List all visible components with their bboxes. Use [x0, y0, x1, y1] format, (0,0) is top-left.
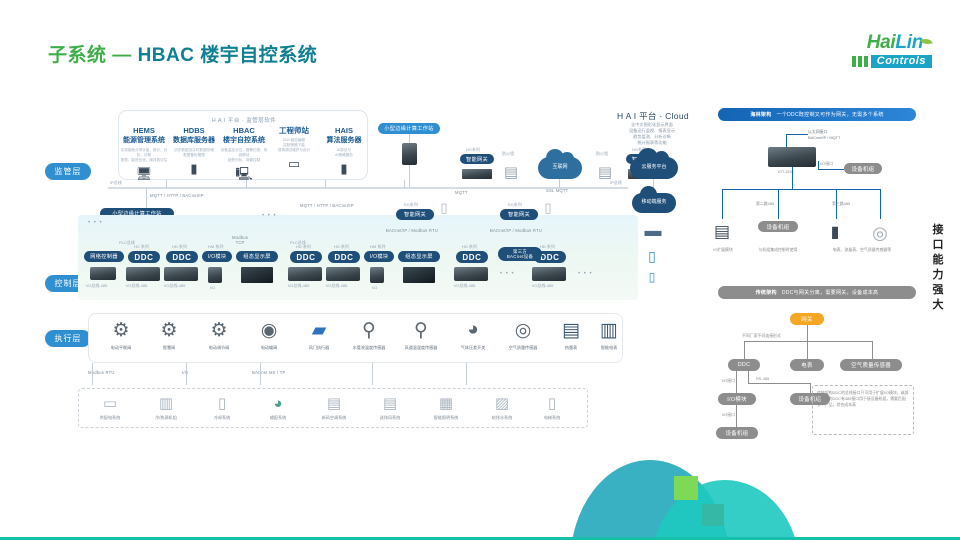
page-title: 子系统 — HBAC 楼宇自控系统: [48, 40, 317, 67]
pipe-sensor-icon: ⚲: [340, 317, 398, 343]
io-port-label-trad: I/O接口: [722, 378, 735, 384]
green-square: [674, 476, 698, 500]
hg-series-left: HG系列: [466, 147, 480, 153]
supervisory-card: H A I 平台 · 监管层软件 HEMS 能源管理系统 实现能耗分项计量、统计…: [118, 110, 368, 180]
sys-label-4: 新风空调系统: [306, 415, 362, 421]
io-unit-line: [736, 405, 737, 427]
ctrl-series-10: HD 系列: [540, 244, 555, 250]
page-title-teal: HBAC 楼宇自控系统: [138, 45, 318, 66]
io-port-line-v: [818, 161, 819, 169]
duct-sensor-icon: ⚲: [392, 317, 450, 343]
mobile-service-label: 移动端服务: [632, 198, 676, 205]
eth-port-line-h: [786, 134, 808, 135]
hais-code: HAIS: [319, 126, 369, 136]
air-sensor-node-trad[interactable]: 空气质量传感器: [840, 359, 902, 371]
gateway-node[interactable]: 网关: [790, 313, 824, 325]
bus-2-485-label: 第二路485: [756, 201, 774, 207]
fan-icon: ▤: [362, 392, 418, 414]
iot-ddc-eth-port-label: 以太网接口 BACnet/IP / MQTT: [808, 129, 888, 140]
logo-controls: Controls: [871, 55, 932, 68]
io-module-badge-1[interactable]: I/O模块: [202, 251, 232, 262]
sys-label-2: 冷却系统: [194, 415, 250, 421]
ddc-trunk-h: [722, 189, 880, 190]
server-icon: ▮: [169, 162, 219, 176]
ddc-device-4-icon: [326, 267, 360, 281]
hbac-name: 楼宇自控系统: [219, 136, 269, 146]
ddc-device-1-icon: [126, 267, 160, 281]
io-bus-2: I/O: [372, 285, 377, 290]
unit-node-caption: 与机组集成控制时使用: [742, 247, 814, 253]
iot-ddc-device-icon: [768, 147, 816, 167]
proto-bacnet-modbus-1: BACnet/IP / Modbus RTU: [386, 228, 438, 233]
ip-bus-label-left: IP总线: [110, 180, 122, 186]
display-badge-1[interactable]: 组态显示屏: [236, 251, 278, 262]
ddc-device-6-icon: [532, 267, 566, 281]
monitor-icon: 🖥: [119, 167, 169, 181]
hailin-arch-banner: 海林架构 一个DDC既控制又可作为网关，无需多个系统: [718, 108, 916, 121]
meter-node-trad[interactable]: 电表: [790, 359, 824, 371]
dots-control-2: • • •: [500, 271, 515, 277]
io-module-node-trad[interactable]: I/O模块: [718, 393, 756, 405]
exec-drop-5: [466, 363, 467, 385]
eg-device-1-icon: ▯: [436, 195, 452, 221]
bus-drop-1: [166, 180, 167, 188]
laptop-device-icon: ▬: [636, 220, 670, 242]
modbus-tcp-label: Modbus TCP: [232, 235, 248, 245]
exec-label-10: 智能电表: [580, 345, 638, 351]
eg-device-2-icon: ▯: [540, 195, 556, 221]
ddc-badge-2[interactable]: DDC: [166, 251, 198, 263]
plc-bus-label-1: PLC总线: [119, 240, 135, 246]
ddc-485-v: [748, 371, 749, 383]
exec-item-6[interactable]: ⚲ 风道温湿度传感器: [392, 317, 450, 351]
energy-meter-icon: ▮: [824, 219, 846, 245]
ddc-device-2-icon: [164, 267, 198, 281]
chiller-icon: ▥: [138, 392, 194, 414]
sys-item-1[interactable]: ▥ 冷/热源机组: [138, 392, 194, 421]
hbac-code: HBAC: [219, 126, 269, 136]
ddc-io-line: [736, 371, 737, 393]
hailin-arch-text: 一个DDC既控制又可作为网关，无需多个系统: [777, 111, 884, 118]
proto-edge-4: MQTT / HTTP / BACnet/IP: [300, 203, 354, 208]
eg-series-2: EG系列: [508, 202, 522, 208]
edge-station-badge[interactable]: 小型边缘计算工作站: [378, 123, 440, 134]
third-party-bacnet-badge[interactable]: 第三方 BACnet设备: [498, 247, 542, 261]
ai-server-icon: ▮: [319, 162, 369, 176]
iot-ddc-label: IOT-DDC: [766, 169, 806, 174]
layer-tag-supervisory: 监管层: [45, 163, 91, 180]
logo-wordmark: HaiLin: [820, 33, 932, 53]
supervisory-item-hbac[interactable]: HBAC 楼宇自控系统 设备监控点位、报警记录、系统联动 趋势分析、场景控制 🖳: [219, 126, 269, 181]
io-expansion-caption: IO扩展模块: [700, 247, 746, 253]
sys-item-7[interactable]: ▨ 给排水系统: [474, 392, 530, 421]
proto-bacnet-modbus-2: BACnet/IP / Modbus RTU: [490, 228, 542, 233]
edge-station-icon: [402, 143, 417, 165]
traditional-arch-title: 传统架构: [756, 289, 777, 296]
dots-control-3: • • •: [578, 271, 593, 277]
internet-label: 互联网: [538, 163, 582, 170]
ddc-bus-5: I/O总线-485: [454, 283, 475, 289]
io-module-badge-2[interactable]: I/O模块: [364, 251, 394, 262]
hdbs-name: 数据库服务器: [169, 136, 219, 146]
hai-cloud-desc: 全中文图形化显示界面 设备运行监视、报表显示 趋势监测、分析诊断 统计报表等功能: [604, 122, 700, 146]
hbac-desc: 设备监控点位、报警记录、系统联动 趋势分析、场景控制: [219, 148, 269, 163]
display-badge-2[interactable]: 组态显示屏: [398, 251, 440, 262]
laptop-icon: ▭: [269, 157, 319, 171]
ddc-badge-3[interactable]: DDC: [290, 251, 322, 263]
logo-hai: Hai: [867, 32, 896, 53]
gateway-badge-left[interactable]: 智能网关: [460, 154, 494, 164]
vendor-note: 不同厂家不同连接形式: [742, 333, 781, 339]
ddc-badge-1[interactable]: DDC: [128, 251, 160, 263]
cloud-platform-label: 云服务平台: [630, 163, 678, 170]
interface-capability-text: 接口能力强大: [930, 223, 946, 313]
ctrl-series-2: HD 系列: [172, 244, 187, 250]
branch-4-v: [880, 189, 881, 219]
sys-label-0: 供配电系统: [82, 415, 138, 421]
net-controller-device-icon: [90, 267, 116, 280]
gw-trunk-v: [807, 325, 808, 341]
hai-cloud-title: H A I 平台 · Cloud: [617, 110, 689, 122]
sys-item-8[interactable]: ▯ 电梯系统: [524, 392, 580, 421]
supervisory-item-engineer[interactable]: 工程师站 DDC组态编程 控制策略下装 现场调试维护与设计 ▭: [269, 126, 319, 181]
ddc-bus-6: I/O总线-485: [532, 283, 553, 289]
ahu-icon: ▤: [306, 392, 362, 414]
bus-3-485-label: 第三路485: [832, 201, 850, 207]
ddc-bus-1: I/O总线-485: [126, 283, 147, 289]
footer-decoration: [0, 460, 960, 540]
display-device-1-icon: [241, 267, 273, 283]
hdbs-code: HDBS: [169, 126, 219, 136]
net-controller-badge[interactable]: 网络控制器: [84, 251, 124, 262]
proto-edge-1: MQTT / HTTP / BACnet/IP: [150, 193, 204, 198]
firewall-label-right: 防火墙: [596, 151, 608, 157]
edge-gw-drop: [146, 188, 147, 208]
firewall-right-icon: ▤: [594, 161, 616, 183]
hdbs-desc: 历史数据及实时数据存储 数据备份管理: [169, 148, 219, 158]
sys-label-7: 给排水系统: [474, 415, 530, 421]
eg-gateway-badge-1[interactable]: 智能网关: [396, 209, 434, 220]
lighting-icon: ▦: [418, 392, 474, 414]
teal-square: [702, 504, 724, 526]
sys-label-1: 冷/热源机组: [138, 415, 194, 421]
unit-node-bottom[interactable]: 设备机组: [758, 221, 798, 232]
logo-lin: Lin: [895, 32, 923, 53]
hailin-arch-title: 海林架构: [750, 111, 771, 118]
supervisory-card-header: H A I 平台 · 监管层软件: [119, 116, 369, 124]
ctrl-series-6: HD 系列: [334, 244, 349, 250]
branch-2-v: [778, 189, 779, 219]
eg-gateway-badge-2[interactable]: 智能网关: [500, 209, 538, 220]
ctrl-series-1: HC 系列: [134, 244, 149, 250]
bus-drop-4: [404, 180, 405, 188]
water-icon: ▨: [474, 392, 530, 414]
edge-link: [409, 134, 410, 143]
ctrl-series-9: HD 系列: [462, 244, 477, 250]
unit-node-top-right[interactable]: 设备机组: [844, 163, 882, 174]
internet-drop: [559, 179, 560, 188]
supervisory-columns: HEMS 能源管理系统 实现能耗分项计量、统计、分析、诊断 报表、能效优化、碳排…: [119, 126, 369, 181]
ctrl-series-5: HD 系列: [296, 244, 311, 250]
layer-tag-execution: 执行层: [45, 330, 91, 347]
page-title-dash: —: [107, 45, 138, 66]
gateway-device-left-icon: [462, 169, 492, 179]
exec-item-5[interactable]: ⚲ 水管流温度传感器: [340, 317, 398, 351]
gw-branch-1: [744, 341, 745, 359]
power-icon: ▭: [82, 392, 138, 414]
supervisory-item-hems[interactable]: HEMS 能源管理系统 实现能耗分项计量、统计、分析、诊断 报表、能效优化、碳排…: [119, 126, 169, 181]
io-expansion-module-icon: ▤: [708, 219, 736, 245]
display-device-2-icon: [403, 267, 435, 283]
sys-label-8: 电梯系统: [524, 415, 580, 421]
hais-desc: AI算法与 AI策略服务: [319, 148, 369, 158]
exec-drop-4: [372, 363, 373, 385]
sys-item-5[interactable]: ▤ 送排风系统: [362, 392, 418, 421]
ctrl-series-3: HM 系列: [208, 244, 223, 250]
sys-item-2[interactable]: ▯ 冷却系统: [194, 392, 250, 421]
ddc-device-3-icon: [288, 267, 322, 281]
ddc-badge-4[interactable]: DDC: [328, 251, 360, 263]
unit-node-trad-2[interactable]: 设备机组: [716, 427, 758, 439]
traditional-arch-banner: 传统架构 DDC与网关分离，需要网关，设备成本高: [718, 286, 916, 299]
firewall-label-left: 防火墙: [502, 151, 514, 157]
air-sensor-right-icon: ◎: [866, 221, 894, 245]
io-port-label: I/O接口: [820, 161, 833, 167]
dots-control-1: • • •: [262, 213, 277, 219]
io-port-label-trad-2: I/O接口: [722, 412, 735, 418]
supervisory-item-hais[interactable]: HAIS 算法服务器 AI算法与 AI策略服务 ▮: [319, 126, 369, 181]
io-module-device-1-icon: [208, 267, 222, 283]
hais-name: 算法服务器: [319, 136, 369, 146]
eg-series-1: EG系列: [404, 202, 418, 208]
ddc-bus-4: I/O总线-485: [326, 283, 347, 289]
exec-proto-bacnet: BACnet MS / TP: [252, 370, 285, 375]
ddc-485-h: [748, 383, 810, 384]
bus-drop-3: [325, 180, 326, 188]
logo-sub: Controls: [820, 55, 932, 68]
exec-item-10[interactable]: ▥ 智能电表: [580, 317, 638, 351]
bars-icon: [852, 56, 868, 67]
exec-label-5: 水管流温度传感器: [340, 345, 398, 351]
smart-meter-icon: ▥: [580, 317, 638, 343]
ddc-node-trad[interactable]: DDC: [728, 359, 760, 371]
ddc-bus-3: I/O总线-485: [288, 283, 309, 289]
rs485-label: RS-485: [756, 376, 769, 381]
dots-control-0: • • •: [88, 220, 103, 226]
net-controller-bus: I/O总线-485: [86, 283, 107, 289]
ssl-mqtt-label: SSL MQTT: [546, 188, 568, 193]
sys-label-5: 送排风系统: [362, 415, 418, 421]
sys-label-6: 智能照明系统: [418, 415, 474, 421]
ctrl-series-7: HM 系列: [370, 244, 385, 250]
supervisory-item-hdbs[interactable]: HDBS 数据库服务器 历史数据及实时数据存储 数据备份管理 ▮: [169, 126, 219, 181]
sys-item-4[interactable]: ▤ 新风空调系统: [306, 392, 362, 421]
io-port-line-h: [818, 169, 844, 170]
hailin-logo: HaiLin Controls: [820, 33, 932, 77]
pump-icon: ◕: [250, 392, 306, 414]
exec-drop-3: [260, 363, 261, 385]
traditional-arch-text: DDC与网关分离，需要网关，设备成本高: [782, 289, 879, 296]
page-title-green: 子系统: [48, 45, 107, 66]
exec-drop-1: [92, 363, 93, 385]
exec-drop-2: [186, 363, 187, 385]
gw-branch-2: [807, 341, 808, 359]
elevator-icon: ▯: [524, 392, 580, 414]
ddc-device-5-icon: [454, 267, 488, 281]
tablet-device-icon: ▯: [640, 245, 664, 267]
hems-code: HEMS: [119, 126, 169, 136]
firewall-left-icon: ▤: [500, 161, 522, 183]
workstation-icon: 🖳: [219, 167, 269, 181]
edge-bus-link: [409, 165, 410, 187]
exec-label-6: 风道温湿度传感器: [392, 345, 450, 351]
architecture-diagram: 监管层 控制层 执行层 H A I 平台 · 监管层软件 HEMS 能源管理系统…: [0, 95, 960, 455]
gw-branch-3: [872, 341, 873, 359]
sys-item-0[interactable]: ▭ 供配电系统: [82, 392, 138, 421]
sys-item-3[interactable]: ◕ 输配系统: [250, 392, 306, 421]
ddc-badge-5[interactable]: DDC: [456, 251, 488, 263]
io-bus-1: I/O: [210, 285, 215, 290]
gw-trunk-h: [744, 341, 872, 342]
branch-1-v: [722, 189, 723, 219]
ddc-bus-2: I/O总线-485: [164, 283, 185, 289]
unit-485-v: [810, 383, 811, 393]
bus-drop-2: [246, 180, 247, 188]
proto-mqtt: MQTT: [455, 190, 468, 195]
meters-caption: 电表、流量表、空气质量传感器等: [818, 247, 906, 253]
io-module-device-2-icon: [370, 267, 384, 283]
traditional-arch-note: 传统架构DDC的总线接口只可用于扩展I/O模块，或部分厂家的DDC有485接口用…: [812, 385, 914, 435]
engineer-code: 工程师站: [269, 126, 319, 136]
phone-device-icon: ▯: [641, 267, 663, 287]
engineer-desc: DDC组态编程 控制策略下装 现场调试维护与设计: [269, 138, 319, 153]
sys-label-3: 输配系统: [250, 415, 306, 421]
hems-desc: 实现能耗分项计量、统计、分析、诊断 报表、能效优化、碳排放评估: [119, 148, 169, 163]
ddc-trunk-v: [792, 167, 793, 189]
hems-name: 能源管理系统: [119, 136, 169, 146]
sys-item-6[interactable]: ▦ 智能照明系统: [418, 392, 474, 421]
cooling-icon: ▯: [194, 392, 250, 414]
